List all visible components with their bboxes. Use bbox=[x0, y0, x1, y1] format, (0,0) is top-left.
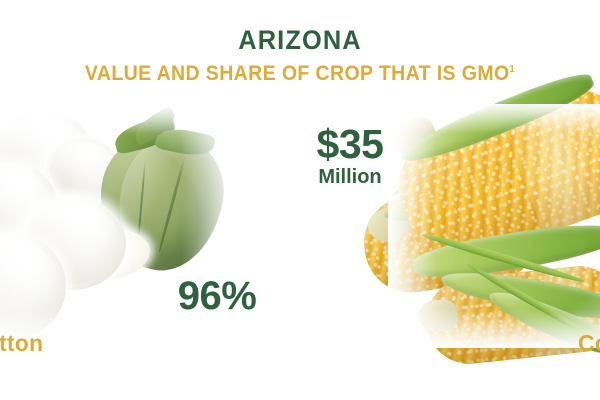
page-title: ARIZONA bbox=[18, 26, 582, 55]
cotton-crop-label: Cotton bbox=[0, 331, 43, 356]
corn-value-amount: $35 bbox=[292, 124, 408, 165]
corn-cobs-photo bbox=[388, 104, 600, 348]
footnote-marker: 1 bbox=[510, 64, 516, 75]
corn-crop-label: Corn bbox=[578, 331, 600, 356]
corn-value-callout: $35 Million bbox=[292, 124, 408, 189]
pod-seam bbox=[157, 154, 186, 253]
page-subtitle: VALUE AND SHARE OF CROP THAT IS GMO1 bbox=[21, 62, 579, 85]
corn-value-unit: Million bbox=[292, 166, 408, 189]
corn-illustration bbox=[388, 104, 600, 348]
cotton-share-callout: 96% bbox=[152, 276, 282, 316]
title-block: ARIZONA VALUE AND SHARE OF CROP THAT IS … bbox=[0, 26, 600, 85]
cotton-share-percent: 96% bbox=[152, 276, 282, 316]
infographic-canvas: ARIZONA VALUE AND SHARE OF CROP THAT IS … bbox=[0, 0, 600, 400]
subtitle-text: VALUE AND SHARE OF CROP THAT IS GMO bbox=[85, 62, 510, 85]
